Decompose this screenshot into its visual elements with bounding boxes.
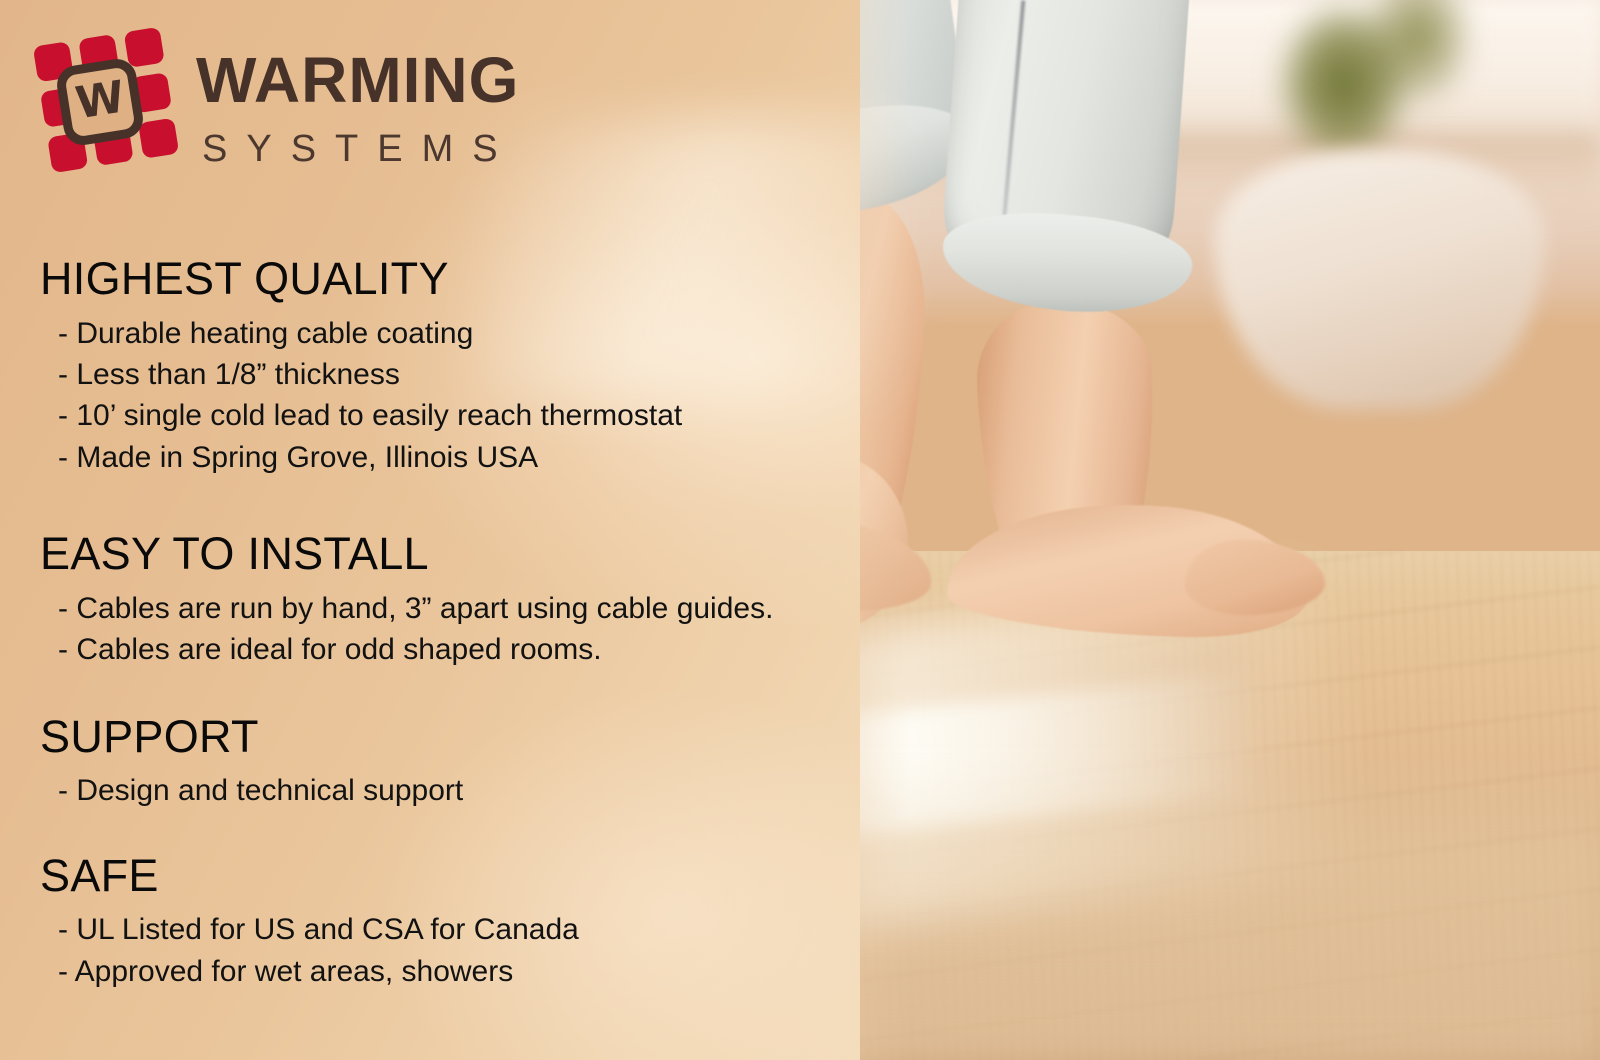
logo-w-letter: W bbox=[73, 76, 127, 127]
list-item: - Design and technical support bbox=[40, 770, 840, 811]
brand-subtitle: SYSTEMS bbox=[202, 130, 517, 168]
section-heading: EASY TO INSTALL bbox=[40, 530, 840, 578]
bullet-list: - Cables are run by hand, 3” apart using… bbox=[40, 588, 840, 671]
plant-foliage bbox=[1260, 0, 1470, 160]
list-item: - Made in Spring Grove, Illinois USA bbox=[40, 437, 840, 478]
feature-sections: HIGHEST QUALITY - Durable heating cable … bbox=[40, 255, 840, 992]
section-heading: SUPPORT bbox=[40, 713, 840, 761]
marketing-slide: W WARMING SYSTEMS HIGHEST QUALITY - Dura… bbox=[0, 0, 1600, 1060]
plant-pot bbox=[1215, 150, 1545, 410]
section-spacer bbox=[40, 671, 840, 713]
list-item: - Less than 1/8” thickness bbox=[40, 354, 840, 395]
logo-mark-icon: W bbox=[32, 28, 182, 178]
logo-tile bbox=[138, 118, 179, 159]
bullet-list: - Durable heating cable coating - Less t… bbox=[40, 313, 840, 479]
logo-w-badge: W bbox=[54, 56, 146, 148]
section-heading: SAFE bbox=[40, 852, 840, 900]
section-spacer bbox=[40, 478, 840, 530]
section-safe: SAFE - UL Listed for US and CSA for Cana… bbox=[40, 852, 840, 992]
list-item: - Cables are run by hand, 3” apart using… bbox=[40, 588, 840, 629]
logo-tile bbox=[124, 27, 165, 68]
section-easy-to-install: EASY TO INSTALL - Cables are run by hand… bbox=[40, 530, 840, 670]
list-item: - 10’ single cold lead to easily reach t… bbox=[40, 395, 840, 436]
brand-logo: W WARMING SYSTEMS bbox=[24, 22, 604, 182]
bullet-list: - UL Listed for US and CSA for Canada - … bbox=[40, 909, 840, 992]
section-support: SUPPORT - Design and technical support bbox=[40, 713, 840, 812]
list-item: - Durable heating cable coating bbox=[40, 313, 840, 354]
section-highest-quality: HIGHEST QUALITY - Durable heating cable … bbox=[40, 255, 840, 478]
list-item: - Approved for wet areas, showers bbox=[40, 951, 840, 992]
list-item: - UL Listed for US and CSA for Canada bbox=[40, 909, 840, 950]
bullet-list: - Design and technical support bbox=[40, 770, 840, 811]
list-item: - Cables are ideal for odd shaped rooms. bbox=[40, 629, 840, 670]
section-spacer bbox=[40, 812, 840, 852]
section-heading: HIGHEST QUALITY bbox=[40, 255, 840, 303]
brand-name: WARMING bbox=[196, 48, 519, 112]
